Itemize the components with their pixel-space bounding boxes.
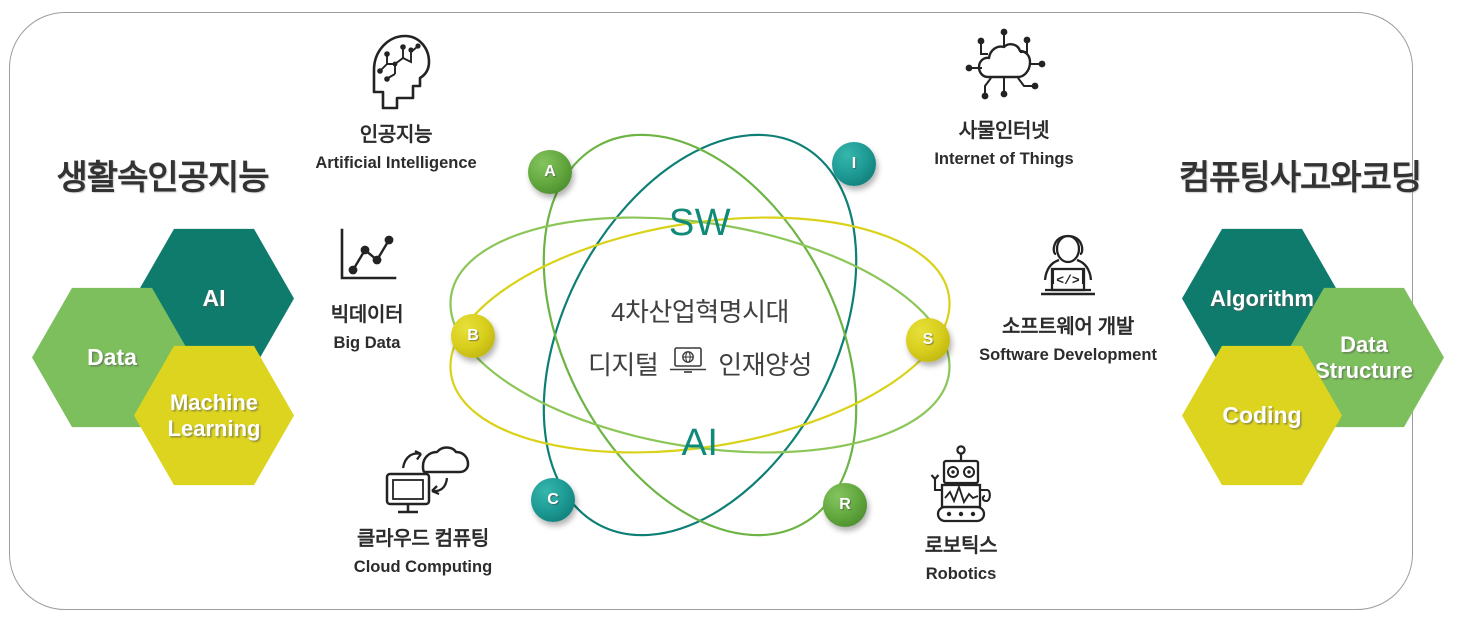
topic-artificial-intelligence-ko: 인공지능 [281, 118, 511, 147]
topic-big-data-ko: 빅데이터 [252, 298, 482, 327]
head-circuit-icon [281, 28, 511, 114]
topic-cloud-computing-en: Cloud Computing [308, 558, 538, 577]
centre-text-block: 4차산업혁명시대 디지털 인재양성 [500, 292, 900, 382]
centre-line-1: 4차산업혁명시대 [500, 292, 900, 329]
centre-label-ai: AI [550, 422, 850, 465]
topic-robotics[interactable]: 로보틱스 Robotics [846, 441, 1076, 584]
hexagon-data-label: Data [87, 344, 137, 371]
hexagon-ai-label: AI [203, 285, 226, 312]
robot-icon [846, 441, 1076, 525]
ml-line1: Machine [170, 390, 258, 415]
topic-software-development-en: Software Development [953, 346, 1183, 365]
ds-line1: Data [1340, 332, 1388, 357]
node-badge-s-letter: S [923, 331, 934, 349]
node-badge-s[interactable]: S [906, 318, 950, 362]
hexagon-machine-learning-label: Machine Learning [168, 390, 261, 441]
node-badge-i[interactable]: I [832, 142, 876, 186]
right-section-title: 컴퓨팅사고와코딩 [1160, 150, 1440, 199]
left-section-title: 생활속인공지능 [25, 150, 300, 199]
laptop-globe-icon [668, 345, 708, 382]
hexagon-data-structure-label: Data Structure [1315, 332, 1413, 383]
hexagon-algorithm-label: Algorithm [1210, 286, 1314, 312]
centre-line-2-before: 디지털 [588, 345, 658, 382]
topic-artificial-intelligence[interactable]: 인공지능 Artificial Intelligence [281, 28, 511, 173]
infographic-canvas: 생활속인공지능 AI Data Machine Learning 컴퓨팅사고와코… [0, 0, 1462, 627]
ml-line2: Learning [168, 416, 261, 441]
topic-internet-of-things-en: Internet of Things [889, 150, 1119, 169]
node-badge-i-letter: I [852, 155, 856, 173]
centre-line-2: 디지털 인재양성 [500, 345, 900, 382]
ds-line2: Structure [1315, 358, 1413, 383]
topic-robotics-en: Robotics [846, 565, 1076, 584]
person-laptop-code-icon: </> [953, 224, 1183, 306]
node-badge-a[interactable]: A [528, 150, 572, 194]
topic-internet-of-things-ko: 사물인터넷 [889, 114, 1119, 143]
node-badge-a-letter: A [544, 163, 556, 181]
centre-line-2-after: 인재양성 [718, 345, 812, 382]
topic-cloud-computing-ko: 클라우드 컴퓨팅 [308, 522, 538, 551]
node-badge-c-letter: C [547, 491, 559, 509]
cloud-nodes-icon [889, 24, 1119, 110]
topic-artificial-intelligence-en: Artificial Intelligence [281, 154, 511, 173]
topic-software-development-ko: 소프트웨어 개발 [953, 310, 1183, 339]
hexagon-coding-label: Coding [1222, 402, 1301, 429]
cloud-monitor-icon [308, 438, 538, 518]
topic-software-development[interactable]: </> 소프트웨어 개발 Software Development [953, 224, 1183, 365]
topic-robotics-ko: 로보틱스 [846, 529, 1076, 558]
topic-big-data-en: Big Data [252, 334, 482, 353]
topic-internet-of-things[interactable]: 사물인터넷 Internet of Things [889, 24, 1119, 169]
topic-big-data[interactable]: 빅데이터 Big Data [252, 222, 482, 353]
line-chart-icon [252, 222, 482, 294]
svg-text:</>: </> [1056, 273, 1080, 288]
topic-cloud-computing[interactable]: 클라우드 컴퓨팅 Cloud Computing [308, 438, 538, 577]
centre-label-sw: SW [550, 202, 850, 245]
